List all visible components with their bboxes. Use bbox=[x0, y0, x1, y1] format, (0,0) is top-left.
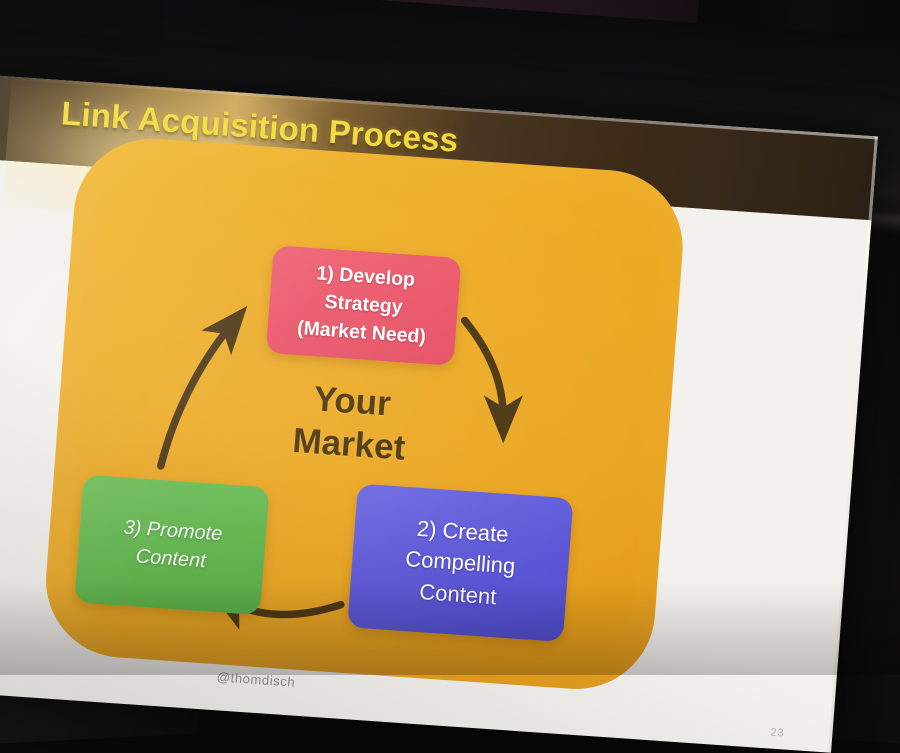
arrow-promote-to-develop bbox=[161, 320, 232, 470]
arrow-develop-to-create bbox=[457, 321, 510, 420]
presenter-handle: @thomdisch bbox=[216, 669, 295, 689]
slide-page-number: 23 bbox=[770, 727, 785, 740]
step-box-develop-strategy[interactable]: 1) Develop Strategy (Market Need) bbox=[266, 245, 462, 366]
step-box-promote-content[interactable]: 3) Promote Content bbox=[74, 475, 269, 615]
slide-surface: Link Acquisition Process YourMar bbox=[0, 74, 878, 753]
cycle-center-label: YourMarket bbox=[253, 374, 449, 472]
cycle-center-label-line-1: YourMarket bbox=[291, 379, 407, 467]
step-promote-line-2: Content bbox=[135, 542, 207, 575]
step-create-line-3: Content bbox=[418, 576, 497, 612]
step-develop-line-3: (Market Need) bbox=[296, 315, 427, 351]
step-box-create-content[interactable]: 2) Create Compelling Content bbox=[347, 484, 573, 642]
projection-screen: Link Acquisition Process YourMar bbox=[0, 74, 878, 753]
cycle-panel: YourMarket 1) Develop Strategy (Market N… bbox=[40, 134, 688, 695]
